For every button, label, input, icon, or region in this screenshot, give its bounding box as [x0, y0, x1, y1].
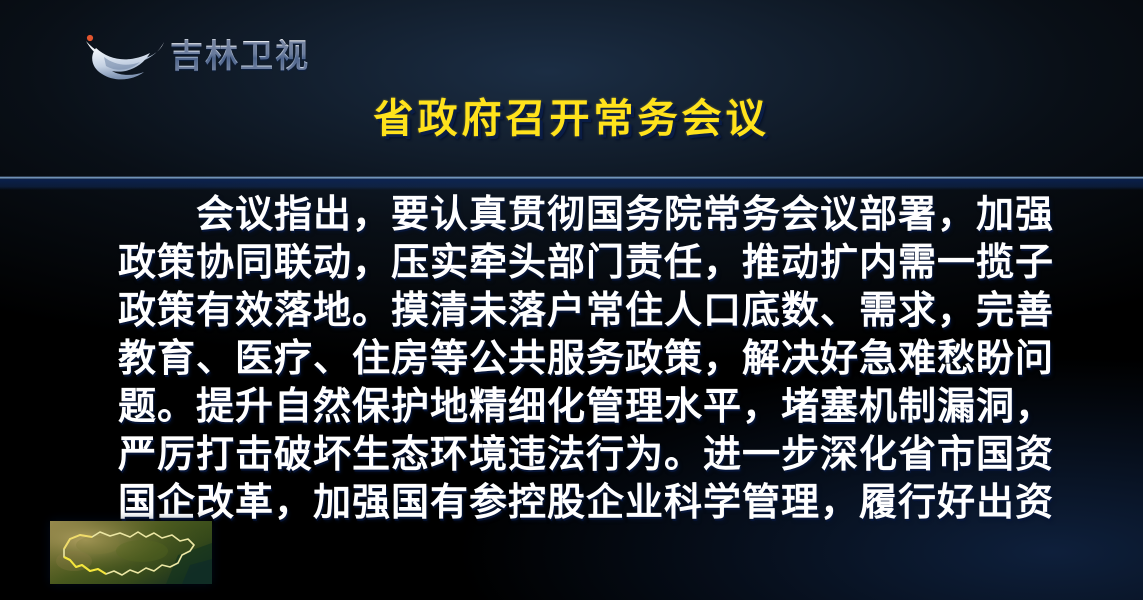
- header-divider-highlight: [0, 176, 1143, 179]
- body-line: 政策协同联动，压实牵头部门责任，推动扩内需一揽子: [118, 238, 1038, 286]
- logo-accent-dot: [87, 35, 93, 41]
- jilin-province-satellite-map-icon: [50, 521, 212, 584]
- headline-title: 省政府召开常务会议: [0, 96, 1143, 142]
- channel-logo: 吉林卫视: [70, 25, 310, 85]
- body-line: 国企改革，加强国有参控股企业科学管理，履行好出资: [118, 478, 1038, 526]
- body-line: 政策有效落地。摸清未落户常住人口底数、需求，完善: [118, 286, 1038, 334]
- jilin-tv-bird-icon: [70, 27, 166, 83]
- news-body-text: 会议指出，要认真贯彻国务院常务会议部署，加强 政策协同联动，压实牵头部门责任，推…: [118, 190, 1038, 526]
- broadcast-news-lower-third-screen: 吉林卫视 省政府召开常务会议 会议指出，要认真贯彻国务院常务会议部署，加强 政策…: [0, 0, 1143, 600]
- body-line: 严厉打击破坏生态环境违法行为。进一步深化省市国资: [118, 430, 1038, 478]
- channel-wordmark: 吉林卫视: [170, 39, 310, 72]
- body-line: 会议指出，要认真贯彻国务院常务会议部署，加强: [118, 190, 1038, 238]
- body-line: 题。提升自然保护地精细化管理水平，堵塞机制漏洞，: [118, 382, 1038, 430]
- body-line: 教育、医疗、住房等公共服务政策，解决好急难愁盼问: [118, 334, 1038, 382]
- header-divider-shadow: [0, 179, 1143, 190]
- province-map-thumbnail: [50, 521, 212, 584]
